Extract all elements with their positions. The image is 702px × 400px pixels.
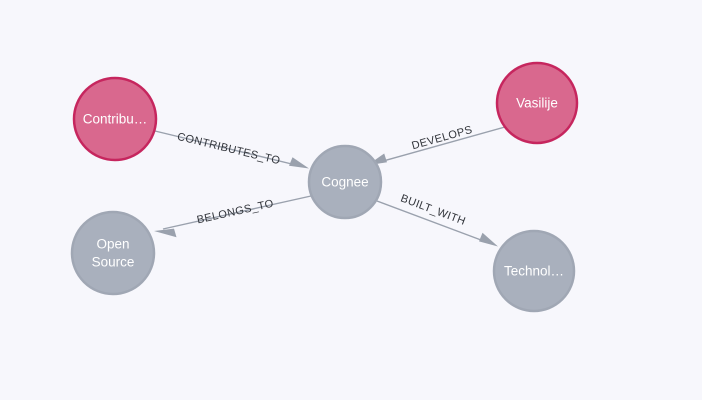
edge-built-with[interactable]: BUILT_WITH — [377, 193, 498, 247]
edge-label-belongs-to: BELONGS_TO — [196, 198, 275, 227]
edge-belongs-to[interactable]: BELONGS_TO — [154, 196, 311, 237]
node-label-open-source-line-2: Source — [92, 255, 135, 270]
node-label-vasilije: Vasilije — [516, 96, 558, 111]
node-label-cognee: Cognee — [321, 175, 368, 190]
edge-arrowhead-belongs-to — [154, 229, 177, 238]
edge-label-contributes-to: CONTRIBUTES_TO — [176, 131, 282, 168]
node-label-contributor: Contribu… — [83, 112, 148, 127]
edge-arrowhead-built-with — [479, 233, 498, 247]
edge-label-develops: DEVELOPS — [410, 124, 473, 152]
edge-contributes-to[interactable]: CONTRIBUTES_TO — [155, 131, 309, 169]
graph-canvas[interactable]: CONTRIBUTES_TO DEVELOPS BELONGS_TO BUILT… — [0, 0, 702, 400]
graph-node-contributor[interactable]: Contribu… — [74, 78, 156, 160]
node-label-open-source-line-1: Open — [96, 237, 129, 252]
graph-node-open-source[interactable]: Open Source — [72, 212, 154, 294]
edge-develops[interactable]: DEVELOPS — [367, 124, 505, 166]
graph-node-vasilije[interactable]: Vasilije — [497, 63, 577, 143]
node-label-technology: Technol… — [504, 264, 564, 279]
graph-node-cognee[interactable]: Cognee — [309, 146, 381, 218]
graph-node-technology[interactable]: Technol… — [494, 231, 574, 311]
edge-arrowhead-contributes-to — [289, 157, 309, 168]
node-circle-open-source[interactable] — [72, 212, 154, 294]
